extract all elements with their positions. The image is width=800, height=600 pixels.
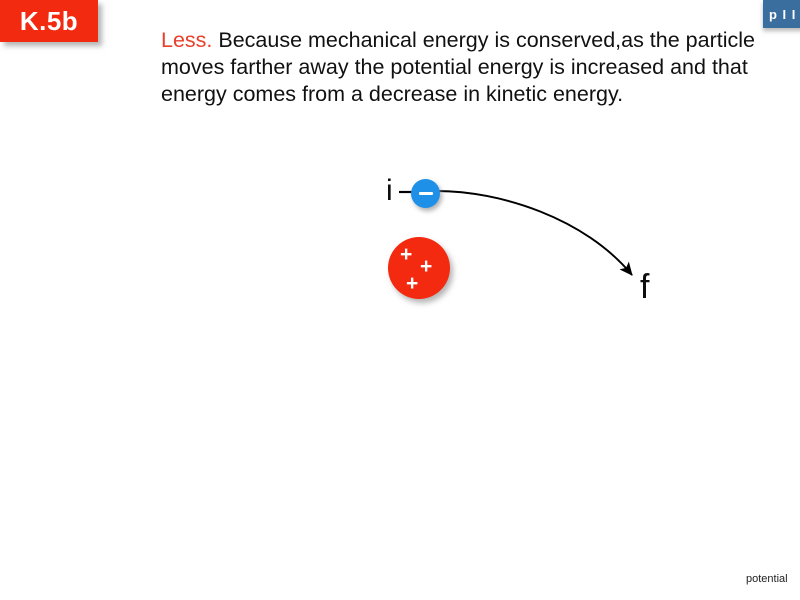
answer-explanation: Less. Because mechanical energy is conse… <box>161 27 761 108</box>
answer-verdict: Less. <box>161 28 212 52</box>
slide-canvas: K.5b p I I Less. Because mechanical ener… <box>0 0 800 600</box>
corner-tag-label: p I I <box>769 8 796 21</box>
answer-explanation-text: Because mechanical energy is conserved,a… <box>161 28 755 106</box>
plus-sign-icon: + <box>420 256 432 277</box>
initial-position-label: i <box>386 176 393 206</box>
positive-charge-source: + + + <box>388 237 450 299</box>
plus-sign-icon: + <box>406 273 418 294</box>
corner-tag: p I I <box>763 0 800 28</box>
standard-code-badge: K.5b <box>0 0 98 42</box>
minus-sign-icon <box>419 192 433 196</box>
plus-sign-icon: + <box>400 244 412 265</box>
footer-note: potential <box>746 573 788 586</box>
final-position-label: f <box>640 270 649 304</box>
negative-charge-particle <box>411 179 440 208</box>
standard-code-label: K.5b <box>20 8 78 34</box>
